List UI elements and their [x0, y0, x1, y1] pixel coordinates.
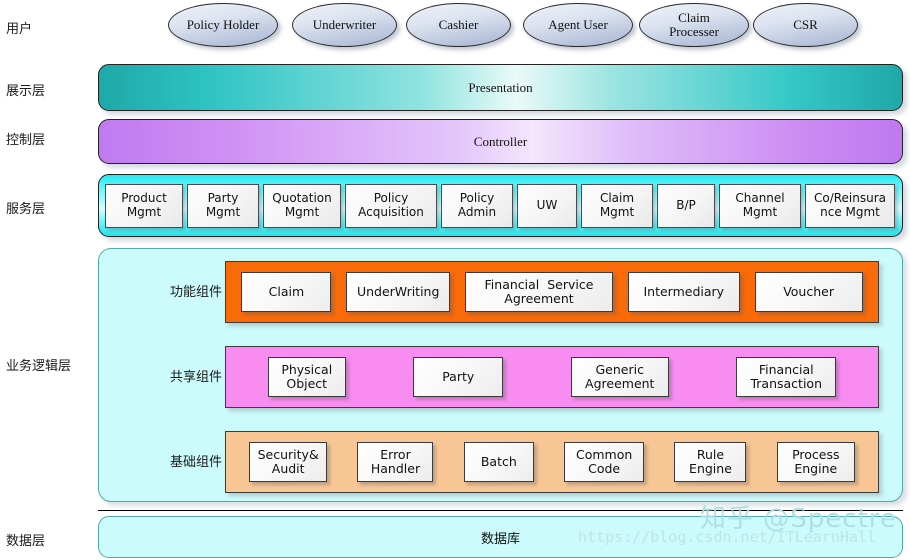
business-group-band-1: Physical ObjectPartyGeneric AgreementFin…	[225, 346, 879, 408]
user-actor-0[interactable]: Policy Holder	[168, 3, 278, 47]
user-actor-2[interactable]: Cashier	[406, 3, 511, 47]
business-component-2-3[interactable]: Common Code	[564, 442, 644, 482]
data-layer-divider	[98, 510, 903, 511]
service-module-label: B/P	[676, 199, 696, 212]
user-actor-3[interactable]: Agent User	[523, 3, 633, 47]
service-module-label: Party Mgmt	[206, 192, 240, 219]
business-component-0-0[interactable]: Claim	[241, 272, 331, 312]
user-actor-label: Claim Processer	[669, 11, 719, 38]
business-component-1-2[interactable]: Generic Agreement	[571, 357, 669, 397]
business-component-0-1[interactable]: UnderWriting	[346, 272, 450, 312]
service-module-label: Channel Mgmt	[735, 192, 784, 219]
service-module-8[interactable]: Channel Mgmt	[719, 184, 801, 228]
business-component-0-2[interactable]: Financial Service Agreement	[465, 272, 613, 312]
service-module-4[interactable]: Policy Admin	[441, 184, 513, 228]
service-module-2[interactable]: Quotation Mgmt	[263, 184, 341, 228]
data-layer-label: 数据库	[481, 528, 520, 547]
users-row: Policy HolderUnderwriterCashierAgent Use…	[0, 0, 910, 56]
service-module-6[interactable]: Claim Mgmt	[581, 184, 653, 228]
user-actor-label: Underwriter	[313, 18, 377, 32]
row-label-service: 服务层	[6, 198, 45, 217]
service-layer: Product MgmtParty MgmtQuotation MgmtPoli…	[98, 174, 903, 237]
service-module-1[interactable]: Party Mgmt	[187, 184, 259, 228]
business-group-band-0: ClaimUnderWritingFinancial Service Agree…	[225, 261, 879, 323]
service-module-label: Product Mgmt	[121, 192, 167, 219]
business-component-0-3[interactable]: Intermediary	[628, 272, 740, 312]
row-label-business: 业务逻辑层	[6, 355, 71, 374]
business-component-2-4[interactable]: Rule Engine	[674, 442, 746, 482]
business-component-1-3[interactable]: Financial Transaction	[736, 357, 836, 397]
user-actor-4[interactable]: Claim Processer	[639, 3, 749, 47]
row-label-data: 数据层	[6, 530, 45, 549]
service-module-0[interactable]: Product Mgmt	[105, 184, 183, 228]
business-component-2-1[interactable]: Error Handler	[357, 442, 433, 482]
controller-layer-bar[interactable]: Controller	[98, 119, 903, 164]
service-module-5[interactable]: UW	[517, 184, 577, 228]
row-label-presentation: 展示层	[6, 80, 45, 99]
service-module-9[interactable]: Co/Reinsura nce Mgmt	[805, 184, 895, 228]
user-actor-1[interactable]: Underwriter	[292, 3, 397, 47]
service-module-label: Claim Mgmt	[600, 192, 634, 219]
service-module-label: Policy Acquisition	[358, 192, 424, 219]
controller-layer-label: Controller	[474, 134, 527, 150]
presentation-layer-bar[interactable]: Presentation	[98, 64, 903, 111]
business-component-0-4[interactable]: Voucher	[755, 272, 863, 312]
business-group-band-2: Security& AuditError HandlerBatchCommon …	[225, 431, 879, 493]
business-component-1-1[interactable]: Party	[413, 357, 503, 397]
service-module-label: Quotation Mgmt	[272, 192, 331, 219]
presentation-layer-label: Presentation	[468, 80, 532, 96]
user-actor-5[interactable]: CSR	[753, 3, 858, 47]
user-actor-label: Policy Holder	[187, 18, 260, 32]
business-component-1-0[interactable]: Physical Object	[268, 357, 346, 397]
business-logic-layer: 功能组件ClaimUnderWritingFinancial Service A…	[98, 248, 903, 502]
service-module-label: UW	[537, 199, 558, 212]
row-label-controller: 控制层	[6, 129, 45, 148]
service-module-label: Policy Admin	[458, 192, 496, 219]
service-module-label: Co/Reinsura nce Mgmt	[814, 192, 886, 219]
business-component-2-0[interactable]: Security& Audit	[249, 442, 327, 482]
business-component-2-5[interactable]: Process Engine	[777, 442, 855, 482]
data-layer[interactable]: 数据库	[98, 516, 903, 558]
user-actor-label: CSR	[793, 18, 818, 32]
service-module-7[interactable]: B/P	[657, 184, 715, 228]
service-module-3[interactable]: Policy Acquisition	[345, 184, 437, 228]
user-actor-label: Agent User	[548, 18, 608, 32]
business-component-2-2[interactable]: Batch	[464, 442, 534, 482]
user-actor-label: Cashier	[439, 18, 479, 32]
